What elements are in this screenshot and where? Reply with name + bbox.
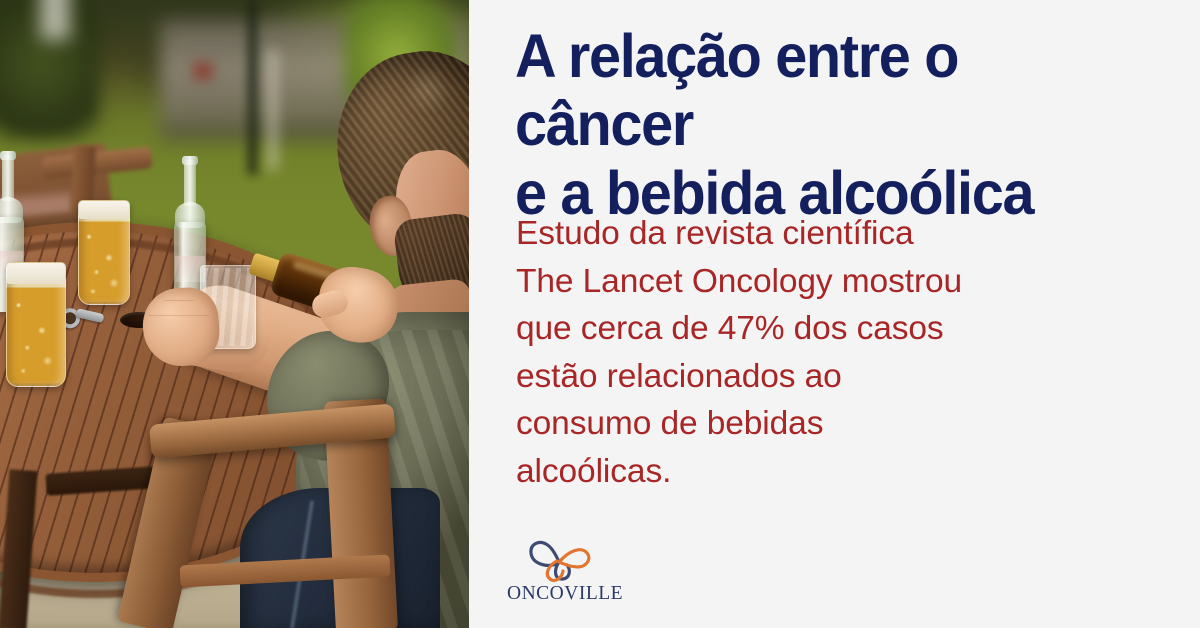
photo-beer-garden xyxy=(0,0,469,628)
body-line-4: estão relacionados ao xyxy=(516,353,1136,401)
headline-line-1: A relação entre o câncer xyxy=(515,22,1148,159)
beer-foam xyxy=(79,201,129,219)
glass-body xyxy=(78,200,130,305)
beer-bubbles xyxy=(7,285,65,386)
beer-glass-front xyxy=(6,262,66,387)
oncoville-butterfly-ribbon-icon xyxy=(523,534,595,584)
body-line-5: consumo de bebidas xyxy=(516,400,1136,448)
body-paragraph: Estudo da revista científica The Lancet … xyxy=(516,210,1136,495)
beer-bubbles xyxy=(79,220,129,304)
fence-post-dark xyxy=(248,0,257,175)
man-left-fingers xyxy=(148,300,210,358)
bottle-neck xyxy=(2,155,14,201)
background-highlight xyxy=(40,0,70,40)
infographic-card: A relação entre o câncer e a bebida alco… xyxy=(0,0,1200,628)
brand-logo: ONCOVILLE xyxy=(507,534,627,618)
body-line-6: alcoólicas. xyxy=(516,448,1136,496)
fence-post-light xyxy=(268,50,278,170)
text-panel: A relação entre o câncer e a bebida alco… xyxy=(469,0,1200,628)
glass-body xyxy=(6,262,66,387)
body-line-1: Estudo da revista científica xyxy=(516,210,1136,258)
body-line-3: que cerca de 47% dos casos xyxy=(516,305,1136,353)
beer-glass-back xyxy=(78,200,130,305)
red-flower-blur xyxy=(193,62,213,80)
body-line-2: The Lancet Oncology mostrou xyxy=(516,258,1136,306)
brand-wordmark: ONCOVILLE xyxy=(507,583,619,605)
beer-foam xyxy=(7,263,65,284)
page-title: A relação entre o câncer e a bebida alco… xyxy=(515,22,1148,227)
bottle-neck xyxy=(184,160,196,206)
